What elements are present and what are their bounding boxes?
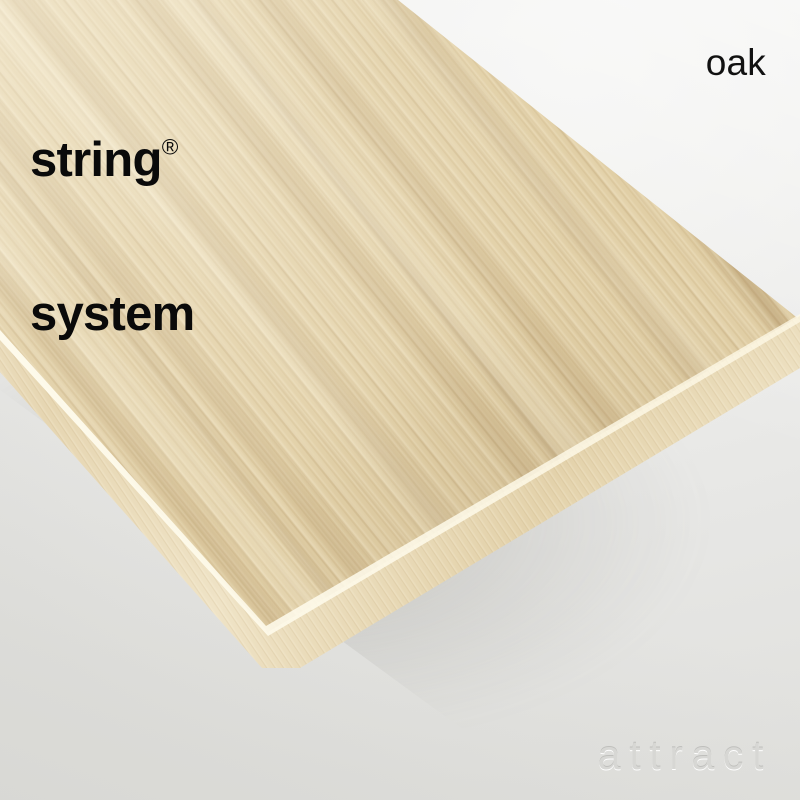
registered-trademark-icon: ® bbox=[162, 134, 179, 159]
brand-name: string bbox=[30, 133, 162, 187]
retailer-watermark: attract bbox=[598, 735, 772, 776]
brand-lockup: string® system bbox=[30, 32, 194, 444]
brand-line-1: string® bbox=[30, 135, 194, 186]
variant-label: oak bbox=[706, 44, 766, 81]
product-image: string® system oak attract bbox=[0, 0, 800, 800]
brand-line-2: system bbox=[30, 289, 194, 340]
